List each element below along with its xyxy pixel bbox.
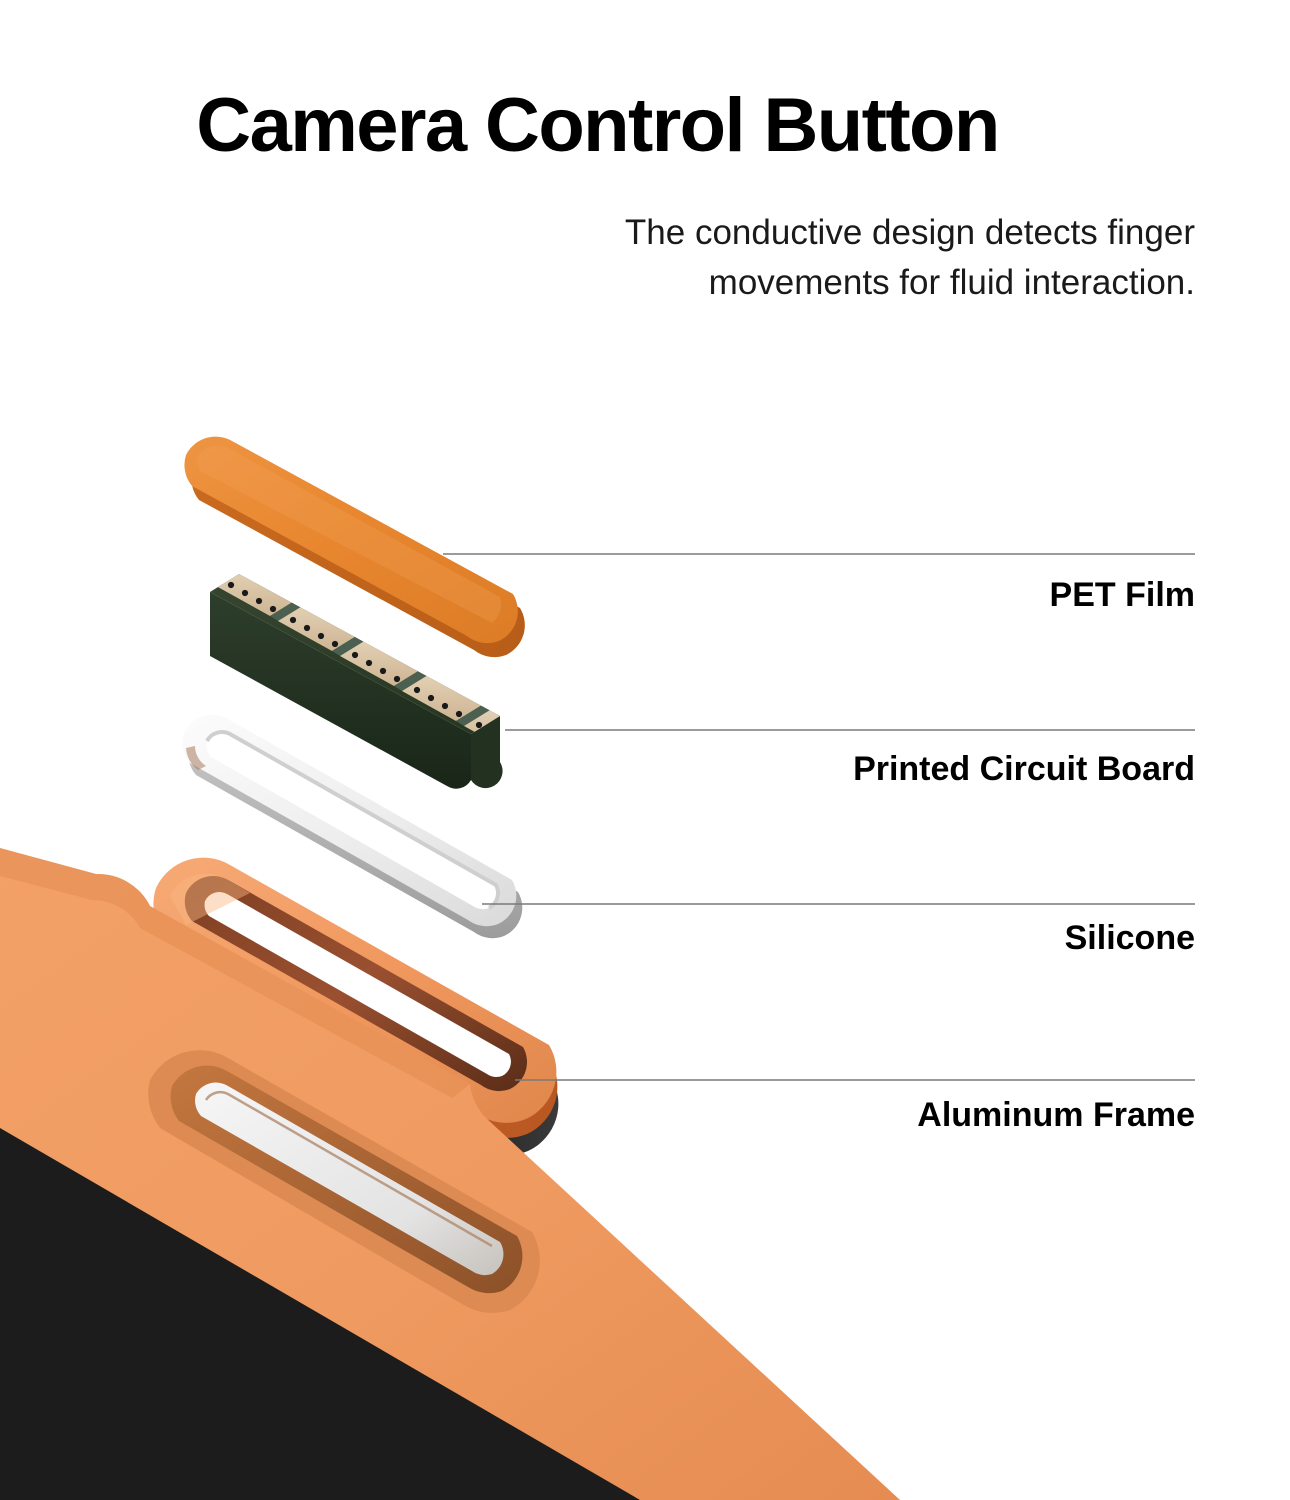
callout-label-aluminum-frame: Aluminum Frame [917,1098,1195,1132]
callout-label-printed-circuit-board: Printed Circuit Board [853,752,1195,786]
leader-lines [443,554,1195,1080]
infographic-page: Camera Control Button The conductive des… [0,0,1290,1500]
callout-label-silicone: Silicone [1065,921,1195,955]
callout-label-pet-film: PET Film [1050,578,1195,612]
phone-case-body [0,848,900,1500]
